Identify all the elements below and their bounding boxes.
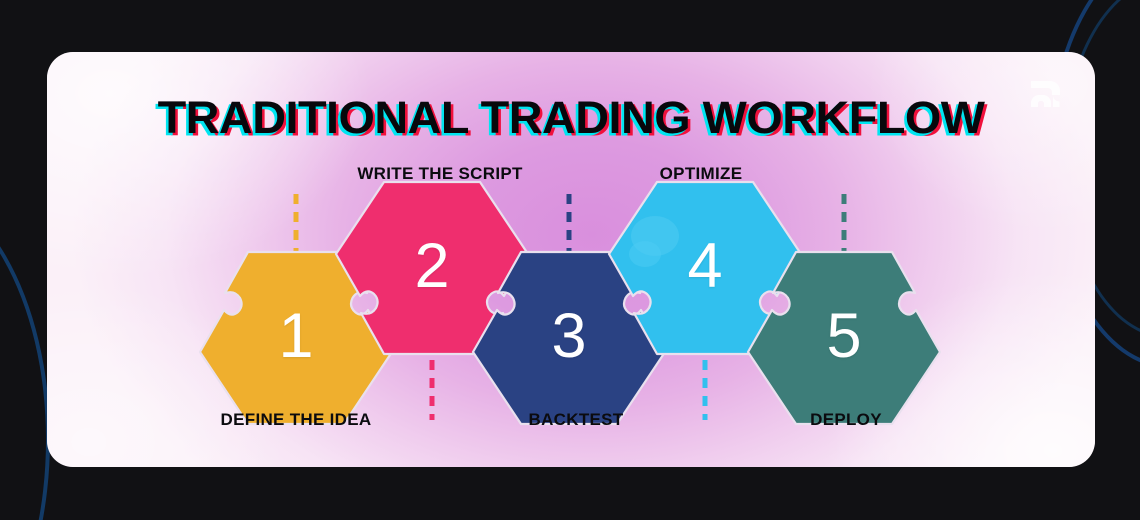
infographic-card: TRADITIONAL TRADING WORKFLOW 1 DEFINE TH… [47, 52, 1095, 467]
step-label-4: OPTIMIZE [660, 164, 743, 184]
page-background: TRADITIONAL TRADING WORKFLOW 1 DEFINE TH… [0, 0, 1140, 520]
connector-dash-4 [703, 360, 708, 420]
decorative-arc-bottom-left [0, 180, 50, 520]
step-label-5: DEPLOY [810, 410, 882, 430]
hexagon-5[interactable]: 5 [748, 248, 940, 428]
connector-dash-5 [842, 194, 847, 252]
page-title: TRADITIONAL TRADING WORKFLOW [47, 92, 1095, 144]
connector-dash-2 [430, 360, 435, 420]
step-label-1: DEFINE THE IDEA [221, 410, 372, 430]
step-label-2: WRITE THE SCRIPT [357, 164, 522, 184]
r-monogram-logo [1023, 72, 1067, 116]
connector-dash-3 [567, 194, 572, 252]
step-label-3: BACKTEST [529, 410, 624, 430]
connector-dash-1 [294, 194, 299, 252]
